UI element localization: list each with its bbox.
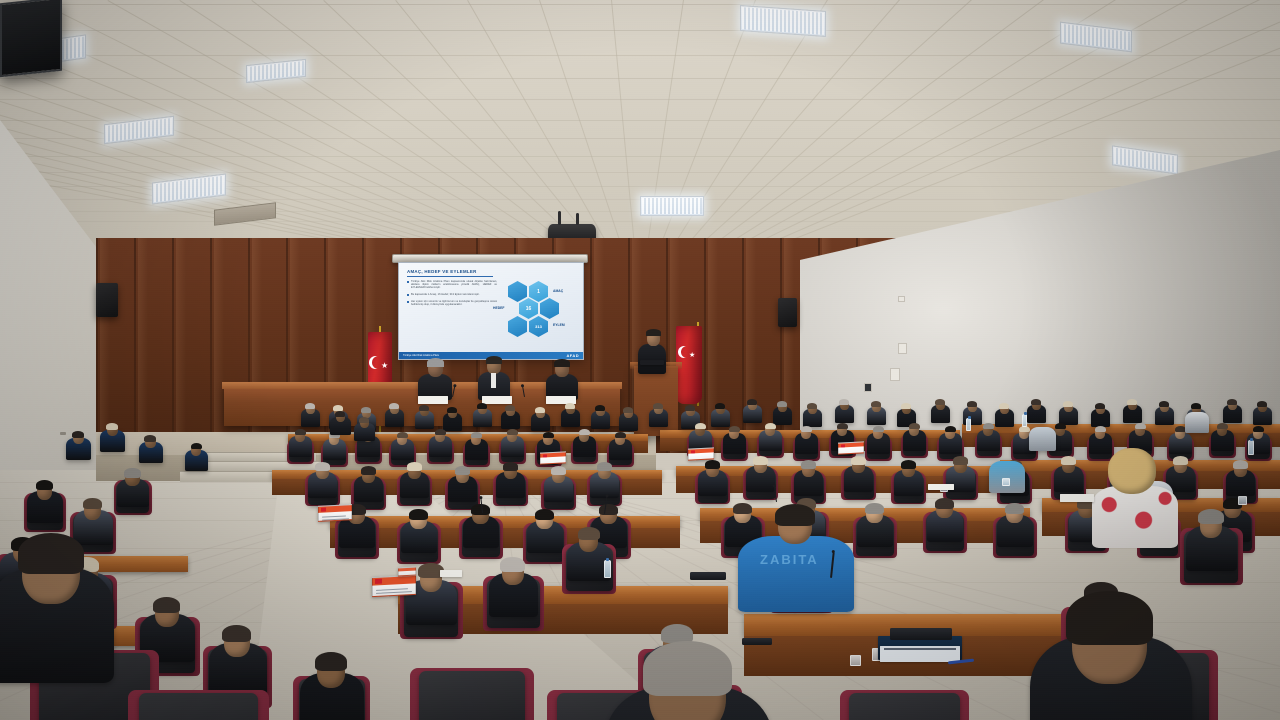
audience-member-hair: [999, 403, 1009, 409]
wall-outlet-2: [890, 368, 900, 381]
audience-member-body-patterned: [1092, 486, 1178, 548]
paper-sheet: [440, 570, 462, 577]
audience-member-hair: [409, 509, 427, 520]
desk-name-card: [318, 504, 352, 522]
ceiling-grid-line: [0, 99, 1280, 100]
name-card-line: [322, 518, 349, 520]
ceiling-grid-line: [0, 55, 1280, 56]
audience-member-hair: [1191, 403, 1201, 409]
desk-name-card: [540, 451, 566, 464]
door-handle-left[interactable]: [60, 432, 66, 435]
audience-member-hair: [361, 407, 371, 413]
ceiling-light-panel: [1060, 22, 1132, 53]
audience-member-hair: [777, 401, 787, 407]
audience-member-hair: [729, 426, 741, 433]
auditorium-chair[interactable]: [849, 693, 959, 720]
audience-member-hair: [397, 432, 409, 439]
audience-member-hair: [1066, 591, 1153, 645]
audience-member-hair: [653, 403, 663, 409]
mobile-phone: [890, 628, 952, 640]
wall-outlet-4: [898, 296, 905, 302]
desk-name-card: [398, 567, 416, 577]
audience-member-hair: [335, 411, 345, 417]
audience-member-hair: [507, 429, 519, 436]
ceiling-grid-line: [0, 78, 1280, 79]
water-bottle: [1022, 414, 1027, 427]
audience-member-hair: [1095, 403, 1105, 409]
panelist-hair: [486, 356, 502, 364]
paper-sheet: [928, 484, 954, 490]
audience-member-hair: [705, 460, 720, 469]
slide-bullet: Her eylem için sorumlu ve ilgili kurum v…: [407, 300, 497, 306]
audience-member-hair: [1063, 401, 1073, 407]
audience-member-hair: [447, 407, 457, 413]
panelist-nameplate: [418, 396, 448, 404]
conference-hall-photo: AMAÇ, HEDEF VE EYLEMLER Türkiye Afet Ris…: [0, 0, 1280, 720]
desk-name-card: [688, 447, 714, 460]
audience-member-hair: [477, 403, 487, 409]
audience-member-hair: [579, 429, 591, 436]
audience-member-hair: [535, 407, 545, 413]
wood-plank-seam: [172, 238, 174, 453]
panelist-hair: [427, 358, 444, 367]
star-icon: ★: [689, 352, 695, 359]
audience-member-hair: [807, 403, 817, 409]
audience-member-hair: [1217, 423, 1229, 430]
audience-member-hair: [595, 405, 605, 411]
desk-name-card: [372, 575, 416, 597]
hexagon-diagram: 1 AMAÇ 16 HEDEF 313 EYLEM: [499, 277, 577, 341]
audience-member-hair: [1227, 399, 1237, 405]
paper-sheet: [1060, 494, 1094, 502]
audience-member-hair: [1253, 426, 1265, 433]
ceiling-light-panel: [246, 59, 306, 83]
audience-member-hair: [359, 417, 369, 423]
floor-tile-line: [0, 582, 1280, 583]
ceiling-grid-line: [0, 120, 1280, 121]
audience-member-hair: [901, 403, 911, 409]
bullet-marker-icon: [407, 281, 409, 283]
wall-speaker-left: [96, 283, 118, 317]
turkish-flag-icon: [691, 450, 695, 453]
wood-plank-seam: [134, 238, 136, 453]
audience-member-hair: [1159, 401, 1169, 407]
water-glass: [850, 655, 861, 666]
audience-member-hair: [18, 533, 85, 574]
audience-member-hair: [565, 403, 575, 409]
audience-member-hair: [106, 423, 118, 430]
wood-plank-highlight: [138, 238, 148, 453]
audience-member-hair: [733, 503, 751, 514]
audience-member-hair: [72, 431, 84, 438]
audience-member-hair: [747, 399, 757, 405]
audience-member-hair: [945, 426, 957, 433]
speaker-hair: [646, 329, 661, 336]
audience-member-hair: [535, 509, 553, 520]
audience-member-hair: [715, 403, 725, 409]
ceiling-grid-line: [0, 138, 1280, 139]
water-glass: [1238, 496, 1247, 505]
audience-member-hair: [578, 527, 600, 540]
audience-member-hair: [935, 498, 953, 509]
name-card-line: [376, 591, 412, 594]
ceiling-light-panel: [740, 5, 826, 37]
audience-member-hair: [909, 423, 921, 430]
notepad-spiral: [884, 648, 956, 650]
audience-member-hair: [83, 498, 103, 510]
slide-bullet: Türkiye Afet Risk Azaltma Planı kapsamın…: [407, 280, 497, 290]
slide-bullet-text: Her eylem için sorumlu ve ilgili kurum v…: [411, 300, 497, 306]
audience-member-hair: [871, 401, 881, 407]
ceiling-grid-line: [643, 0, 684, 268]
audience-member-hair: [305, 403, 315, 409]
audience-member-hair: [643, 641, 733, 697]
audience-member-hair: [551, 466, 566, 475]
wall-outlet-1: [898, 343, 907, 354]
turkish-flag-icon: [375, 579, 382, 584]
audience-member-hair: [435, 429, 447, 436]
audience-member-hair: [419, 405, 429, 411]
wall-mounted-tv: [0, 0, 62, 77]
water-bottle: [604, 560, 611, 578]
wood-plank-highlight: [100, 238, 110, 453]
auditorium-chair[interactable]: [419, 671, 525, 720]
audience-member-hair: [599, 504, 617, 515]
desk-name-card: [838, 441, 864, 454]
hex-label-amac: AMAÇ: [553, 289, 563, 293]
audience-member-hair: [775, 504, 815, 526]
slide-footer-text: Türkiye Afet Risk Azaltma Planı: [403, 354, 439, 357]
audience-member-hair: [873, 426, 885, 433]
audience-member-hair: [983, 423, 995, 430]
wood-plank-seam: [96, 238, 98, 453]
wood-plank-highlight: [176, 238, 186, 453]
podium-laptop: [640, 360, 664, 365]
audience-member-body: [1029, 427, 1056, 451]
panelist-nameplate: [482, 396, 512, 404]
audience-member-hair: [315, 652, 347, 671]
panelist-shirt: [491, 373, 496, 388]
mobile-phone: [742, 638, 772, 645]
audience-member-hair: [389, 403, 399, 409]
auditorium-chair[interactable]: [139, 693, 259, 720]
audience-member-hair: [837, 423, 849, 430]
audience-member-hair: [967, 401, 977, 407]
audience-member-hair: [503, 462, 518, 471]
water-bottle: [966, 418, 971, 431]
audience-member-hair: [901, 460, 916, 469]
audience-member-body-zabita: [738, 536, 854, 612]
audience-member-hair: [144, 435, 156, 442]
hex-node-hedef: 16: [519, 298, 538, 319]
audience-member-hair: [1005, 503, 1023, 514]
audience-member-hair: [695, 423, 707, 430]
water-glass: [1002, 478, 1010, 486]
name-card-line: [376, 588, 408, 590]
audience-member-hair: [935, 399, 945, 405]
audience-member-hair: [124, 468, 140, 478]
audience-member-hair: [765, 423, 777, 430]
audience-member-hair: [295, 429, 307, 436]
audience-member-hair: [1031, 399, 1041, 405]
audience-member-hair: [1257, 401, 1267, 407]
audience-member-hair: [753, 456, 768, 465]
ceiling-grid-line: [660, 0, 900, 268]
hex-node-amac: 1: [529, 281, 548, 302]
name-card-line: [322, 515, 346, 517]
audience-member-hair: [333, 405, 343, 411]
audience-member-hair: [623, 407, 633, 413]
turkish-flag-icon: [543, 454, 547, 457]
wall-outlet-3: [864, 383, 872, 392]
ceiling-grid-line: [0, 0, 586, 268]
mobile-phone: [690, 572, 726, 580]
turkish-flag-icon: [841, 444, 845, 447]
audience-member-hair: [315, 462, 330, 471]
audience-member-hair: [543, 432, 555, 439]
audience-member-hair: [597, 462, 612, 471]
audience-member-hair: [1095, 426, 1107, 433]
audience-member-hair: [1061, 456, 1076, 465]
zabita-shirt-text: ZABITA: [760, 552, 819, 567]
audience-member-hair: [407, 462, 422, 471]
hex-node-eylem: 313: [529, 316, 548, 337]
audience-member-hair: [36, 480, 54, 491]
audience-member-hair: [1135, 423, 1147, 430]
audience-member-hair: [455, 466, 470, 475]
projection-screen: AMAÇ, HEDEF VE EYLEMLER Türkiye Afet Ris…: [398, 262, 584, 360]
audience-member-hair: [801, 426, 813, 433]
audience-member-hair: [615, 432, 627, 439]
audience-member-head: [1108, 448, 1156, 494]
audience-member-hair: [1198, 509, 1224, 524]
audience-member-hair: [1173, 456, 1188, 465]
audience-member-hair: [505, 405, 515, 411]
audience-member-hair: [851, 456, 866, 465]
slide-bullet: Bu kapsamda 1 Amaç, 16 Hedef, 313 Eylem …: [407, 293, 497, 296]
hex-node-decorative: [508, 281, 527, 302]
audience-member-hair: [801, 460, 816, 469]
slide-title: AMAÇ, HEDEF VE EYLEMLER: [407, 269, 493, 277]
speaker-body: [638, 344, 666, 374]
ceiling-light-panel: [640, 196, 704, 216]
hex-node-decorative: [540, 298, 559, 319]
slide-bullet-text: Bu kapsamda 1 Amaç, 16 Hedef, 313 Eylem …: [411, 293, 480, 296]
audience-member-hair: [153, 597, 180, 613]
audience-member-hair: [839, 399, 849, 405]
audience-member-hair: [191, 443, 203, 450]
wall-speaker-right: [778, 298, 797, 327]
slide-bullet-list: Türkiye Afet Risk Azaltma Planı kapsamın…: [407, 280, 497, 310]
audience-member-hair: [1233, 460, 1248, 469]
turkish-flag-icon: [321, 507, 326, 511]
audience-member-hair: [500, 557, 525, 572]
hex-node-decorative: [508, 316, 527, 337]
water-bottle: [1248, 440, 1254, 455]
hex-label-hedef: HEDEF: [493, 306, 505, 310]
hex-label-eylem: EYLEM: [553, 323, 565, 327]
audience-member-hair: [1127, 399, 1137, 405]
ceiling-grid-line: [0, 156, 1280, 157]
slide-bullet-text: Türkiye Afet Risk Azaltma Planı kapsamın…: [411, 280, 497, 290]
audience-member-hair: [685, 405, 695, 411]
audience-member-hair: [953, 456, 968, 465]
audience-member-hair: [361, 466, 376, 475]
wood-plank-highlight: [214, 238, 224, 453]
slide-footer-brand: AFAD: [567, 353, 580, 358]
bullet-marker-icon: [407, 294, 409, 296]
bullet-marker-icon: [407, 301, 409, 303]
audience-member-hair: [865, 503, 883, 514]
ceiling-grid-line: [0, 4, 1280, 5]
ceiling-light-panel: [1112, 145, 1178, 174]
star-icon: ★: [381, 362, 388, 370]
ceiling-grid-line: [0, 172, 1280, 173]
audience-member-hair: [1055, 423, 1067, 430]
audience-member-hair: [471, 432, 483, 439]
audience-member-hair: [222, 625, 251, 642]
panelist-hair: [554, 359, 570, 367]
wood-plank-seam: [210, 238, 212, 453]
audience-member-body: [1185, 412, 1209, 433]
wood-plank-seam: [704, 238, 706, 453]
